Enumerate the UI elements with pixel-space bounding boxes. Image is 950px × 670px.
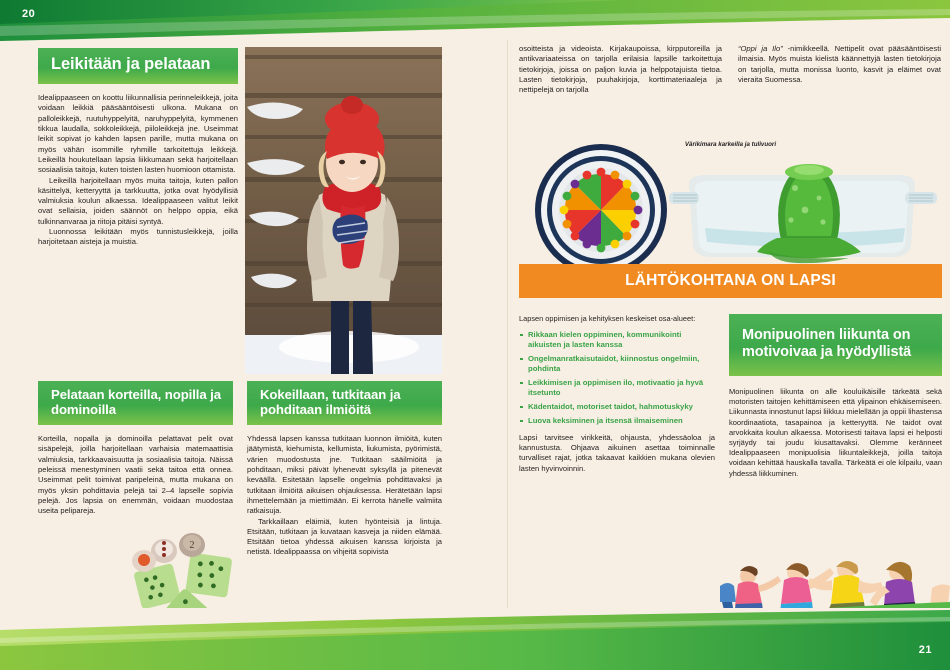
svg-text:2: 2 <box>190 540 195 551</box>
bullet-item: Luova keksiminen ja itsensä ilmaiseminen <box>519 416 715 426</box>
right-column-two: “Oppi ja Ilo” -nimikkeellä. Nettipelit o… <box>738 44 941 96</box>
top-green-wave-band: 20 <box>0 0 950 46</box>
article-body-pelataan: Korteilla, nopalla ja dominoilla pelatta… <box>38 434 233 517</box>
bottom-wave-graphic <box>0 608 950 670</box>
key-areas-bullet-list: Rikkaan kielen oppiminen, kommunikointi … <box>519 330 715 426</box>
left-article-two: Pelataan korteilla, nopilla ja dominoill… <box>38 381 233 558</box>
experiment-photo-graphic <box>519 140 942 264</box>
bullet-list-lead-line: Lapsen oppimisen ja kehityksen keskeiset… <box>519 314 715 324</box>
bullet-item: Rikkaan kielen oppiminen, kommunikointi … <box>519 330 715 350</box>
page-number-right: 21 <box>919 644 932 656</box>
paragraph: “Oppi ja Ilo” -nimikkeellä. Nettipelit o… <box>738 44 941 85</box>
article-body-kokeillaan: Yhdessä lapsen kanssa tutkitaan luonnon … <box>247 434 442 558</box>
article-title-leikitaan-ja-pelataan: Leikitään ja pelataan <box>38 48 238 84</box>
paragraph: Lapsi tarvitsee virikkeitä, ohjausta, yh… <box>519 433 715 474</box>
book-series-name: “Oppi ja Ilo” <box>738 44 783 53</box>
left-lower-columns: Pelataan korteilla, nopilla ja dominoill… <box>38 381 442 558</box>
article-title-kokeillaan-tutkitaan: Kokeillaan, tutkitaan ja pohditaan ilmiö… <box>247 381 442 425</box>
top-wave-graphic <box>0 0 950 46</box>
sidebar-title-monipuolinen-liikunta: Monipuolinen liikunta on motivoivaa ja h… <box>729 314 942 376</box>
bottom-green-wave-band <box>0 608 950 670</box>
paragraph: osoitteista ja videoista. Kirjakaupoissa… <box>519 44 722 96</box>
right-lower-columns: Lapsen oppimisen ja kehityksen keskeiset… <box>519 314 942 479</box>
candy-rainbow-bowl-and-green-volcano-experiment <box>519 140 942 264</box>
right-sidebar: Monipuolinen liikunta on motivoivaa ja h… <box>729 314 942 479</box>
article-body-leikitaan: Idealippaaseen on koottu liikunnallisia … <box>38 93 238 248</box>
left-article-one: Leikitään ja pelataan Idealippaaseen on … <box>38 48 238 248</box>
winter-girl-illustration <box>245 47 442 374</box>
orange-banner-text: LÄHTÖKOHTANA ON LAPSI <box>625 272 836 290</box>
page-gutter-divider <box>507 40 508 610</box>
article-title-pelataan-korteilla: Pelataan korteilla, nopilla ja dominoill… <box>38 381 233 425</box>
sidebar-body-text: Monipuolinen liikunta on alle kouluikäis… <box>729 387 942 479</box>
bullet-item: Kädentaidot, motoriset taidot, hahmotusk… <box>519 402 715 412</box>
right-column-one: osoitteista ja videoista. Kirjakaupoissa… <box>519 44 722 96</box>
bullet-item: Leikkimisen ja oppimisen ilo, motivaatio… <box>519 378 715 398</box>
page-number-left: 20 <box>22 8 35 20</box>
left-article-three: Kokeillaan, tutkitaan ja pohditaan ilmiö… <box>247 381 442 558</box>
paragraph: Monipuolinen liikunta on alle kouluikäis… <box>729 387 942 479</box>
bullet-item: Ongelmanratkaisutaidot, kiinnostus ongel… <box>519 354 715 374</box>
orange-section-banner: LÄHTÖKOHTANA ON LAPSI <box>519 264 942 298</box>
right-top-text-columns: osoitteista ja videoista. Kirjakaupoissa… <box>519 44 942 96</box>
experiment-photo-caption: Värikimara karkeilla ja tulivuori <box>519 141 942 148</box>
paragraph: Leikeillä harjoitellaan myös muita taito… <box>38 176 238 228</box>
closing-paragraph-block: Lapsi tarvitsee virikkeitä, ohjausta, yh… <box>519 433 715 474</box>
paragraph: Luonnossa leikitään myös tunnistusleikke… <box>38 227 238 248</box>
paragraph: Korteilla, nopalla ja dominoilla pelatta… <box>38 434 233 517</box>
girl-in-red-hat-winter-photo <box>245 47 442 374</box>
paragraph: Yhdessä lapsen kanssa tutkitaan luonnon … <box>247 434 442 517</box>
paragraph: Tarkkaillaan eläimiä, kuten hyönteisiä j… <box>247 517 442 558</box>
magazine-spread: 20 Leikitään ja pelataan Idealippaaseen … <box>0 0 950 670</box>
right-bullets-column: Lapsen oppimisen ja kehityksen keskeiset… <box>519 314 715 479</box>
paragraph: Idealippaaseen on koottu liikunnallisia … <box>38 93 238 176</box>
